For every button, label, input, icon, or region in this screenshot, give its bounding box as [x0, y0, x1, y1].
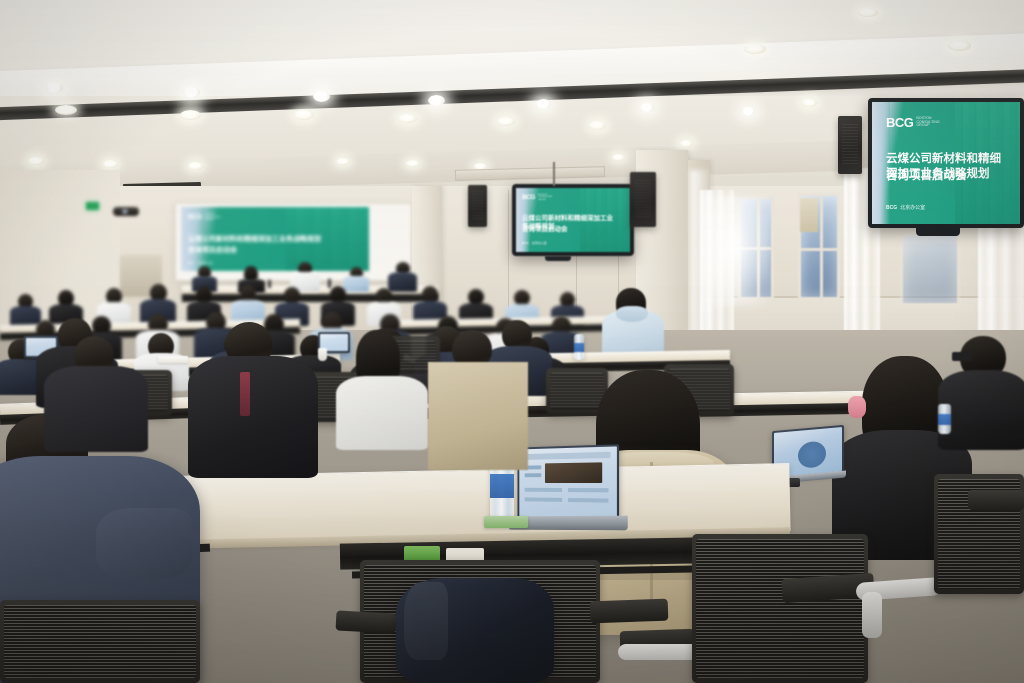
tv-mount: [916, 228, 960, 236]
eyeglasses-icon: [952, 352, 972, 361]
lanyard: [240, 372, 250, 416]
exit-sign-icon: [86, 202, 99, 210]
downlight: [28, 157, 44, 165]
slide-footer-mark: BCG: [188, 261, 195, 265]
wall-tv-center: BCG BOSTON CONSULTING GROUP 云煤公司新材料和精细深加…: [512, 184, 634, 256]
downlight: [802, 99, 817, 107]
chair-foreground[interactable]: [0, 600, 200, 683]
wall-speaker: [468, 185, 487, 227]
attendee-coat: [428, 362, 528, 470]
slide-title-line2: 咨询项目启动会: [522, 226, 568, 233]
chair-foreground[interactable]: [692, 534, 868, 683]
downlight: [858, 8, 878, 17]
track-light: [428, 95, 445, 106]
laptop-center[interactable]: [518, 444, 620, 521]
hoodie-hood: [616, 306, 648, 322]
downlight: [744, 44, 766, 54]
slide-logo-mark: BCG: [522, 194, 535, 201]
slide-footer-text: 北京办公室: [900, 204, 925, 211]
downlight: [497, 117, 515, 126]
attendee-suit: [188, 356, 318, 478]
window: [900, 232, 960, 306]
paper-cup: [318, 348, 327, 361]
downlight: [188, 162, 203, 170]
downlight: [180, 110, 201, 120]
tv-cable: [553, 162, 555, 186]
attendee-blouse: [336, 376, 428, 450]
slide-logo-sub-3: GROUP: [916, 123, 929, 127]
wall-speaker: [838, 116, 862, 174]
water-bottle: [938, 404, 951, 434]
attendee-arm: [96, 508, 192, 578]
slide-footer-mark: BCG: [522, 241, 529, 245]
track-light: [640, 103, 654, 112]
slide-logo-sub-3: GROUP: [205, 218, 214, 221]
scarf: [848, 396, 866, 418]
slide-footer-text: 北京办公室: [532, 241, 547, 245]
chair-armrest[interactable]: [336, 610, 397, 633]
downlight: [589, 121, 606, 130]
downlight: [680, 140, 693, 147]
slide-logo-sub-3: GROUP: [538, 199, 546, 201]
track-light: [313, 91, 330, 102]
chair-armrest[interactable]: [968, 490, 1024, 510]
downlight: [336, 158, 350, 165]
downlight: [612, 154, 625, 161]
track-light: [183, 87, 200, 98]
notepad-green: [484, 516, 528, 528]
downlight: [294, 110, 314, 120]
chair-armrest[interactable]: [590, 599, 669, 624]
slide-logo-mark: BCG: [188, 214, 202, 221]
room-camera-icon: [113, 207, 139, 216]
slide-title-line2: 咨询项目启动会: [886, 170, 967, 182]
downlight: [103, 160, 118, 168]
downlight: [398, 114, 417, 123]
slide-footer-text: 北京办公室: [198, 261, 213, 265]
wall-tv-right: BCG BOSTON CONSULTING GROUP 云煤公司新材料和精细深加…: [868, 98, 1024, 228]
window-blind: [800, 198, 818, 232]
backpack-strap: [404, 582, 448, 660]
slide-title-line1: 云煤公司新材料和精细深加工业务战略规划: [188, 236, 321, 243]
window-light-glow: [700, 196, 770, 306]
chair-frame-white: [862, 592, 882, 638]
slide-logo-mark: BCG: [886, 115, 913, 130]
projection-screen: BCG BOSTON CONSULTING GROUP 云煤公司新材料和精细深加…: [181, 207, 369, 271]
slide-title-line2: 咨询项目启动会: [188, 247, 237, 254]
downlight: [406, 160, 420, 167]
paper-stack: [158, 356, 188, 363]
water-bottle: [574, 334, 584, 360]
track-light: [46, 82, 63, 93]
track-light: [742, 107, 755, 116]
attendee-suit: [44, 366, 148, 452]
tv-mount: [545, 256, 571, 261]
slide-footer-mark: BCG: [886, 205, 897, 211]
wall-speaker: [630, 172, 656, 227]
conference-room-photo: BCG BOSTON CONSULTING GROUP 云煤公司新材料和精细深加…: [0, 0, 1024, 683]
downlight: [948, 40, 971, 51]
downlight: [55, 105, 77, 115]
track-light: [536, 99, 551, 109]
